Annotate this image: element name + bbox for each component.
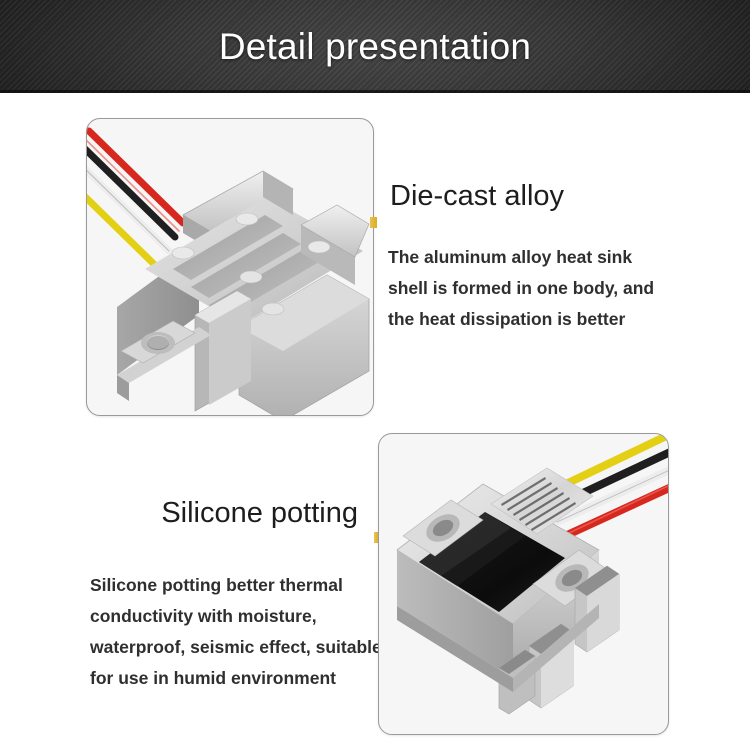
page-header-banner: Detail presentation	[0, 0, 750, 93]
body-line: shell is formed in one body, and	[388, 273, 688, 304]
product-image-silicone-potting	[379, 434, 668, 734]
body-line: conductivity with moisture,	[90, 601, 380, 632]
section-body-die-cast-alloy: The aluminum alloy heat sink shell is fo…	[388, 242, 688, 335]
body-line: waterproof, seismic effect, suitable	[90, 632, 380, 663]
section-heading-die-cast-alloy: Die-cast alloy	[390, 180, 564, 213]
body-line: The aluminum alloy heat sink	[388, 242, 688, 273]
wire-bundle	[87, 131, 183, 271]
section-heading-silicone-potting: Silicone potting	[0, 497, 358, 530]
product-detail-page: Detail presentation	[0, 0, 750, 750]
body-line: the heat dissipation is better	[388, 304, 688, 335]
page-title: Detail presentation	[0, 26, 750, 68]
body-line: Silicone potting better thermal	[90, 570, 380, 601]
product-photo-frame-silicone-potting	[378, 433, 669, 735]
section-body-silicone-potting: Silicone potting better thermal conducti…	[90, 570, 380, 694]
product-photo-frame-die-cast-alloy	[86, 118, 374, 416]
product-image-die-cast-alloy	[87, 119, 373, 415]
gold-accent-marker-top	[370, 217, 377, 228]
body-line: for use in humid environment	[90, 663, 380, 694]
